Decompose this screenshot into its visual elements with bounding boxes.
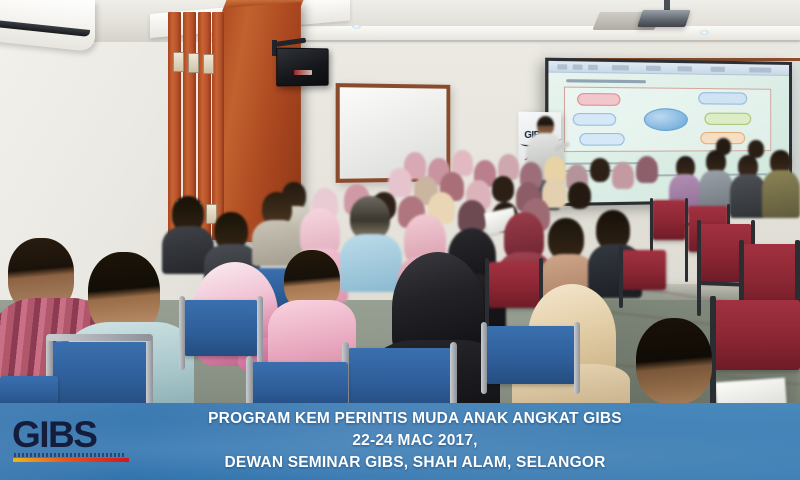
caption-line-2: 22-24 MAC 2017, <box>150 430 680 452</box>
gibs-logo: GIBS <box>12 420 134 464</box>
chair-frame <box>179 296 185 370</box>
chair-frame <box>450 342 457 412</box>
caption-text-block: PROGRAM KEM PERINTIS MUDA ANAK ANGKAT GI… <box>150 408 680 474</box>
chair-back-frame <box>46 334 153 341</box>
chair-frame <box>481 322 487 394</box>
chair-frame <box>146 336 153 410</box>
seminar-photo-screenshot: GIBS <box>0 0 800 480</box>
chair-frame <box>574 322 580 394</box>
caption-line-1: PROGRAM KEM PERINTIS MUDA ANAK ANGKAT GI… <box>150 408 680 430</box>
chair-blue <box>52 342 148 408</box>
caption-line-3: DEWAN SEMINAR GIBS, SHAH ALAM, SELANGOR <box>150 452 680 474</box>
chair-blue <box>184 300 258 356</box>
chair-frame <box>257 296 263 370</box>
chair-blue <box>486 326 576 384</box>
gibs-logo-text: GIBS <box>12 416 96 453</box>
chair-blue <box>252 362 348 408</box>
gibs-logo-underline-rule <box>13 458 129 462</box>
chair-blue <box>348 348 452 408</box>
chair-frame <box>246 356 253 410</box>
gibs-logo-tagline <box>14 453 126 457</box>
